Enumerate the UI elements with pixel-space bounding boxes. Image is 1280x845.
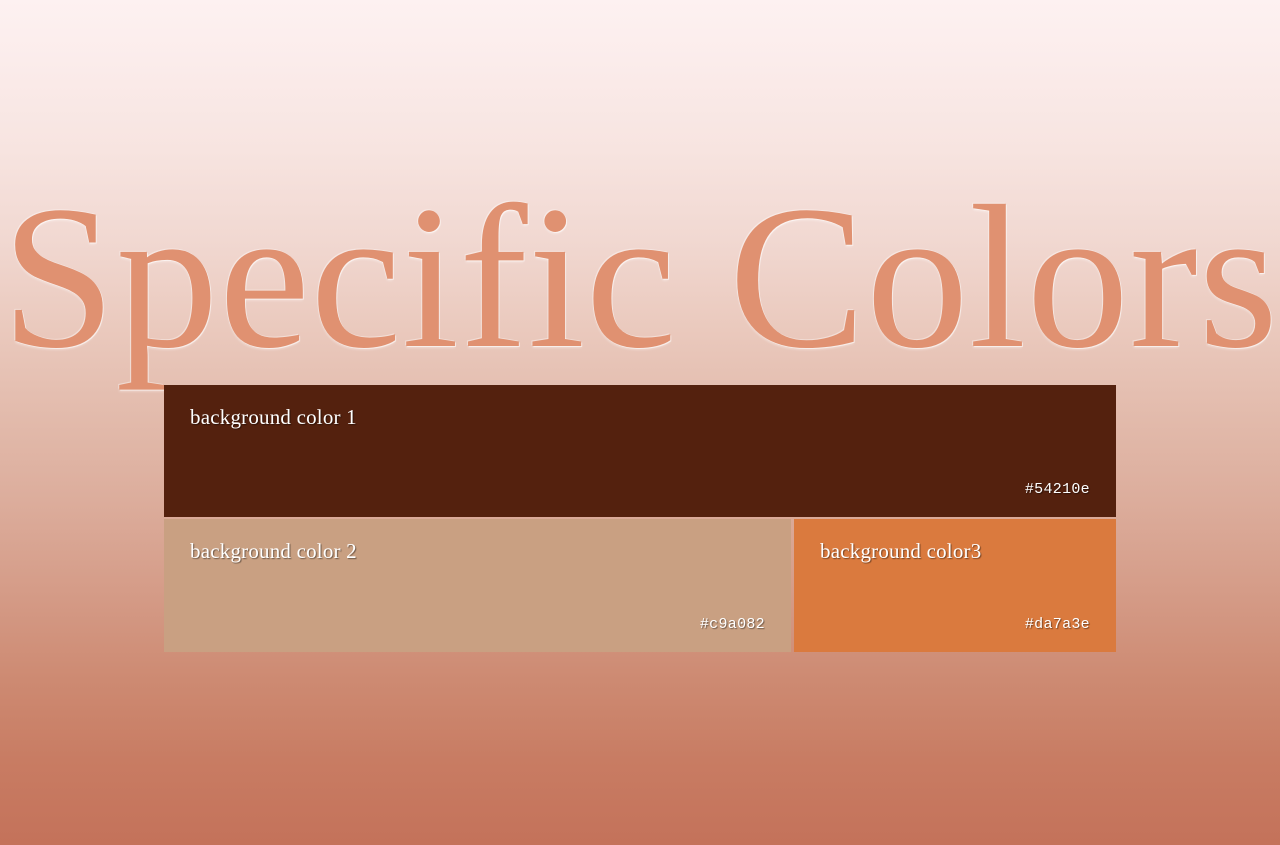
color-swatch-grid: background color 1 #54210e background co… (164, 385, 1116, 652)
color-swatch-background-color-3[interactable]: background color3 #da7a3e (794, 519, 1116, 652)
swatch-hex-value: #da7a3e (1025, 617, 1090, 634)
swatch-label: background color 2 (190, 540, 357, 563)
swatch-hex-value: #54210e (1025, 482, 1090, 499)
swatch-label: background color 1 (190, 406, 357, 429)
swatch-label: background color3 (820, 540, 981, 563)
page-title: Specific Colors (0, 175, 1280, 380)
color-swatch-background-color-1[interactable]: background color 1 #54210e (164, 385, 1116, 517)
swatch-hex-value: #c9a082 (700, 617, 765, 634)
color-palette-page: Specific Colors background color 1 #5421… (0, 0, 1280, 845)
color-swatch-background-color-2[interactable]: background color 2 #c9a082 (164, 519, 791, 652)
